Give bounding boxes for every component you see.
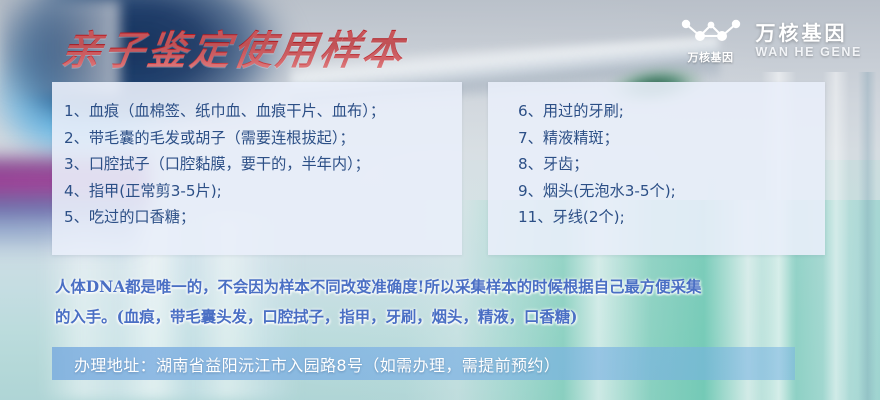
list-item: 7、精液精斑； [518, 125, 825, 152]
brand-logo: 万核基因 万核基因 WAN HE GENE [680, 16, 863, 65]
address-text: 办理地址：湖南省益阳沅江市入园路8号（如需办理，需提前预约） [52, 352, 560, 376]
logo-mark-label: 万核基因 [688, 49, 734, 65]
list-item: 3、口腔拭子（口腔黏膜，要干的，半年内）； [64, 151, 462, 178]
page-title: 亲子鉴定使用样本 [58, 18, 410, 76]
list-item: 8、牙齿； [518, 151, 825, 178]
list-item: 6、用过的牙刷; [518, 98, 825, 125]
logo-mark: 万核基因 [680, 16, 742, 65]
list-item: 9、烟头(无泡水3-5个); [518, 178, 825, 205]
molecule-icon [680, 16, 742, 46]
poster-canvas: 亲子鉴定使用样本 [0, 0, 880, 400]
sample-list-left: 1、血痕（血棉签、纸巾血、血痕干片、血布）； 2、带毛囊的毛发或胡子（需要连根拔… [52, 82, 462, 231]
sample-list-panel-left: 1、血痕（血棉签、纸巾血、血痕干片、血布）； 2、带毛囊的毛发或胡子（需要连根拔… [52, 82, 462, 255]
logo-wordmark: 万核基因 WAN HE GENE [756, 22, 863, 59]
list-item: 1、血痕（血棉签、纸巾血、血痕干片、血布）； [64, 98, 462, 125]
logo-name-en: WAN HE GENE [756, 45, 863, 59]
sample-list-panel-right: 6、用过的牙刷; 7、精液精斑； 8、牙齿； 9、烟头(无泡水3-5个); 11… [488, 82, 825, 255]
list-item: 4、指甲(正常剪3-5片); [64, 178, 462, 205]
logo-name-cn: 万核基因 [756, 22, 863, 44]
list-item: 2、带毛囊的毛发或胡子（需要连根拔起）； [64, 125, 462, 152]
list-item: 11、牙线(2个); [518, 204, 825, 231]
address-bar: 办理地址：湖南省益阳沅江市入园路8号（如需办理，需提前预约） [52, 347, 795, 380]
sample-list-right: 6、用过的牙刷; 7、精液精斑； 8、牙齿； 9、烟头(无泡水3-5个); 11… [488, 82, 825, 231]
note-line-1: 人体DNA都是唯一的，不会因为样本不同改变准确度!所以采集样本的时候根据自己最方… [55, 272, 855, 302]
note-line-2: 的入手。(血痕，带毛囊头发，口腔拭子，指甲，牙刷，烟头，精液，口香糖) [55, 302, 855, 332]
note-paragraph: 人体DNA都是唯一的，不会因为样本不同改变准确度!所以采集样本的时候根据自己最方… [55, 272, 855, 332]
list-item: 5、吃过的口香糖； [64, 204, 462, 231]
